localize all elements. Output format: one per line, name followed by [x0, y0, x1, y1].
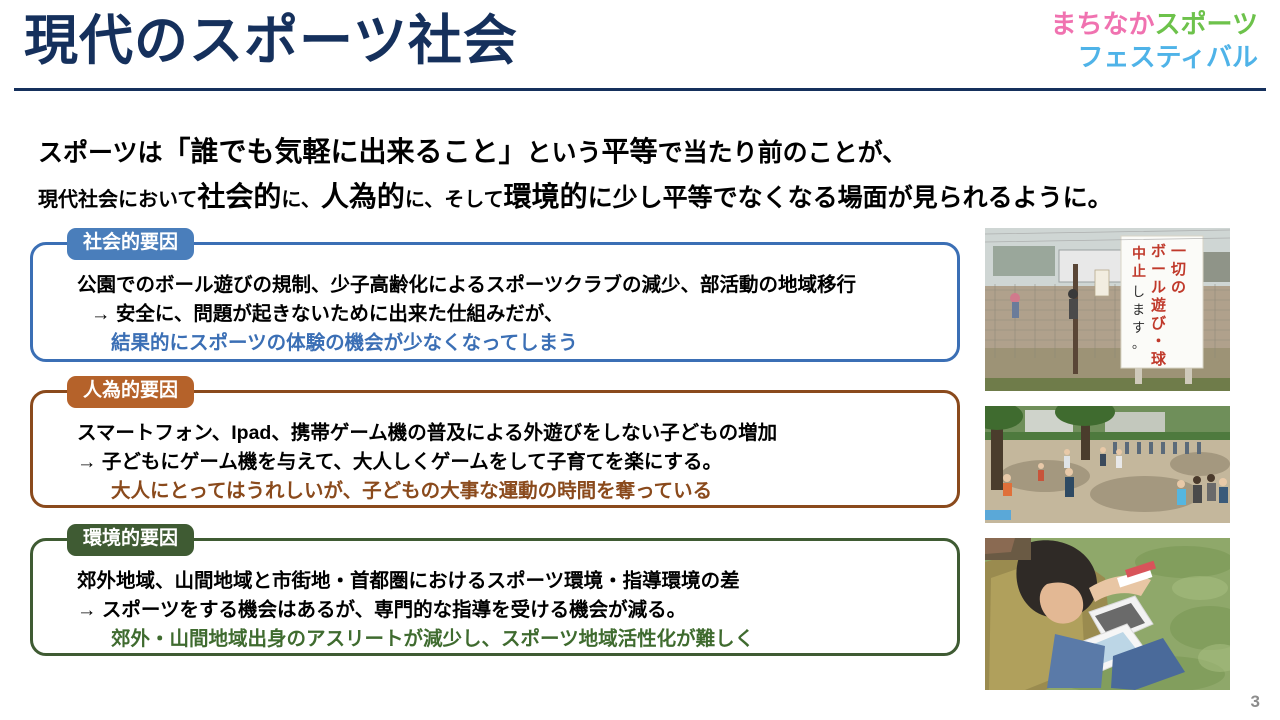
- intro-l1-seg1: スポーツは: [38, 139, 163, 167]
- svg-text:ま: ま: [1132, 303, 1145, 318]
- logo-line-1: まちなかスポーツ: [1051, 8, 1259, 41]
- svg-text:ボ: ボ: [1151, 242, 1166, 260]
- factor-social-line-2: → 安全に、問題が起きないために出来た仕組みだが、: [77, 300, 943, 329]
- factor-env-line-3: 郊外・山間地域出身のアスリートが減少し、スポーツ地域活性化が難しく: [77, 625, 943, 654]
- intro-l2-seg3: に、: [281, 189, 320, 211]
- logo-line-2: フェスティバル: [1051, 41, 1259, 74]
- intro-l2-seg5: に、そして: [405, 189, 504, 211]
- factor-social-line-3: 結果的にスポーツの体験の機会が少なくなってしまう: [77, 329, 943, 358]
- intro-l1-emphasis-byodo: 平等: [602, 136, 658, 167]
- factor-body-environmental: 郊外地域、山間地域と市街地・首都圏におけるスポーツ環境・指導環境の差 → スポー…: [77, 567, 943, 654]
- factor-env-line-1: 郊外地域、山間地域と市街地・首都圏におけるスポーツ環境・指導環境の差: [77, 567, 943, 596]
- event-logo: まちなかスポーツ フェスティバル: [1051, 8, 1259, 73]
- svg-text:遊: 遊: [1151, 296, 1166, 314]
- svg-text:び: び: [1151, 314, 1166, 332]
- photo-child-playing-handheld-game-outdoors: [985, 538, 1230, 690]
- factor-box-environmental: 環境的要因 郊外地域、山間地域と市街地・首都圏におけるスポーツ環境・指導環境の差…: [30, 538, 960, 656]
- factor-body-human: スマートフォン、Ipad、携帯ゲーム機の普及による外遊びをしない子どもの増加 →…: [77, 419, 943, 506]
- factor-human-line-3: 大人にとってはうれしいが、子どもの大事な運動の時間を奪っている: [77, 477, 943, 506]
- logo-text-machinaka: まちなか: [1051, 9, 1155, 39]
- photo-sign-graphic: 一切の ボール 遊び・ 球 中止 します。: [985, 228, 1230, 391]
- photo-park-ball-game-prohibited-sign: 一切の ボール 遊び・ 球 中止 します。: [985, 228, 1230, 391]
- intro-l2-emphasis-environmental: 環境的: [504, 181, 588, 212]
- photo-park-graphic: [985, 406, 1230, 523]
- intro-line-1: スポーツは「誰でも気軽に出来ること」という平等で当たり前のことが、: [38, 132, 1158, 177]
- svg-text:・: ・: [1151, 332, 1166, 350]
- factor-box-human: 人為的要因 スマートフォン、Ipad、携帯ゲーム機の普及による外遊びをしない子ど…: [30, 390, 960, 508]
- factor-tag-human: 人為的要因: [67, 376, 194, 408]
- factor-human-line-2: → 子どもにゲーム機を与えて、大人しくゲームをして子育てを楽にする。: [77, 448, 943, 477]
- intro-l1-seg5: で当たり前のことが、: [658, 139, 908, 167]
- logo-text-sports: スポーツ: [1155, 9, 1258, 39]
- intro-l2-emphasis-human: 人為的: [321, 181, 405, 212]
- factor-tag-environmental: 環境的要因: [67, 524, 194, 556]
- svg-text:ル: ル: [1151, 278, 1166, 296]
- svg-text:。: 。: [1132, 337, 1145, 352]
- intro-l2-seg7: に少し平等でなくなる場面が見られるように。: [588, 184, 1113, 212]
- factor-tag-social: 社会的要因: [67, 228, 194, 260]
- svg-text:球: 球: [1151, 350, 1167, 368]
- svg-text:し: し: [1132, 285, 1145, 300]
- factor-human-line-1: スマートフォン、Ipad、携帯ゲーム機の普及による外遊びをしない子どもの増加: [77, 419, 943, 448]
- factor-box-social: 社会的要因 公園でのボール遊びの規制、少子高齢化によるスポーツクラブの減少、部活…: [30, 242, 960, 362]
- svg-text:中: 中: [1132, 245, 1146, 262]
- photo-gaming-graphic: [985, 538, 1230, 690]
- svg-text:す: す: [1132, 321, 1145, 336]
- intro-l2-seg1: 現代社会において: [38, 189, 197, 211]
- svg-text:止: 止: [1132, 263, 1146, 280]
- intro-line-2: 現代社会において社会的に、人為的に、そして環境的に少し平等でなくなる場面が見られ…: [38, 177, 1158, 222]
- svg-text:一: 一: [1171, 242, 1186, 260]
- intro-l2-emphasis-social: 社会的: [197, 181, 281, 212]
- factor-env-line-2: → スポーツをする機会はあるが、専門的な指導を受ける機会が減る。: [77, 596, 943, 625]
- photo-children-gathered-in-park: [985, 406, 1230, 523]
- factor-social-line-1: 公園でのボール遊びの規制、少子高齢化によるスポーツクラブの減少、部活動の地域移行: [77, 271, 943, 300]
- svg-text:ー: ー: [1151, 260, 1166, 278]
- header-divider: [14, 88, 1266, 91]
- slide-header: 現代のスポーツ社会 まちなかスポーツ フェスティバル: [0, 0, 1280, 92]
- intro-paragraph: スポーツは「誰でも気軽に出来ること」という平等で当たり前のことが、 現代社会にお…: [38, 132, 1158, 222]
- svg-text:の: の: [1171, 278, 1186, 296]
- intro-l1-quote: 「誰でも気軽に出来ること」: [163, 136, 527, 167]
- intro-l1-seg3: という: [527, 139, 602, 167]
- page-title: 現代のスポーツ社会: [24, 8, 518, 76]
- svg-text:切: 切: [1171, 260, 1186, 278]
- page-number: 3: [1251, 692, 1260, 712]
- factor-body-social: 公園でのボール遊びの規制、少子高齢化によるスポーツクラブの減少、部活動の地域移行…: [77, 271, 943, 358]
